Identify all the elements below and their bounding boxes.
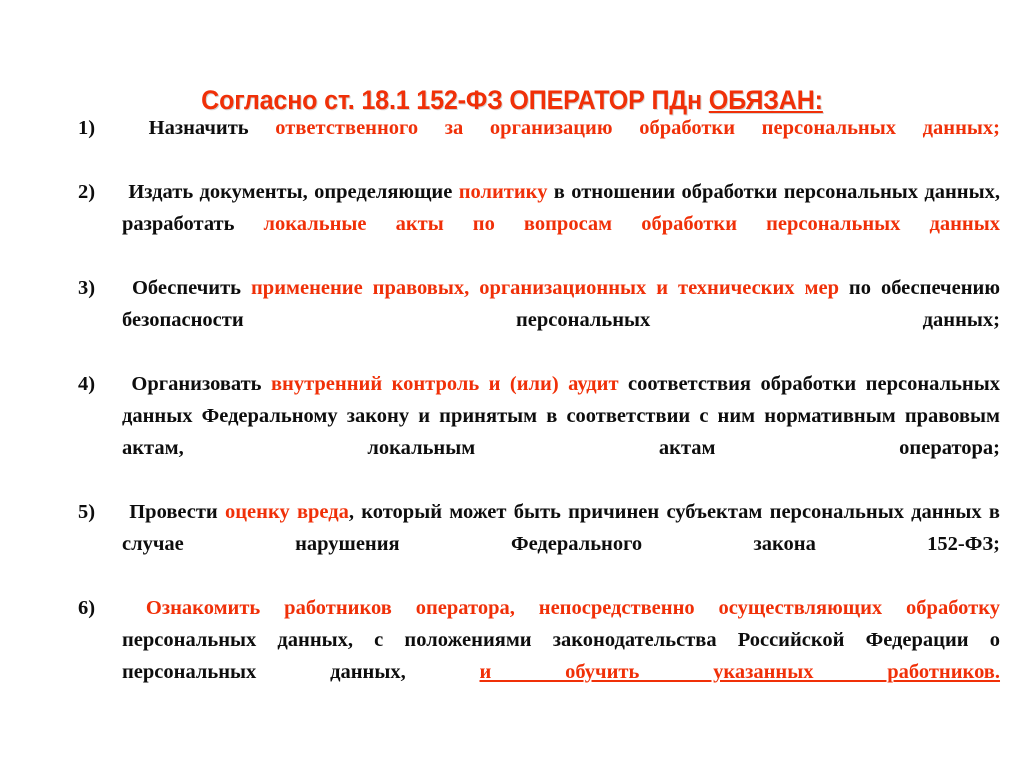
list-item: 1) Назначить ответственного за организац… [78,112,1000,176]
run-text: Обеспечить [122,277,251,299]
list-item: 3) Обеспечить применение правовых, орган… [78,272,1000,368]
list-item: 4) Организовать внутренний контроль и (и… [78,368,1000,496]
obligations-list: 1) Назначить ответственного за организац… [78,112,956,720]
list-item-number: 2) [78,176,122,208]
list-item-number: 6) [78,592,122,624]
run-text: политику [459,181,548,203]
run-text: Организовать [122,373,271,395]
run-text: Издать документы, определяющие [122,181,459,203]
run-text-underlined: и обучить указанных работников. [479,661,1000,683]
list-item-number: 1) [78,112,122,144]
list-item-number: 3) [78,272,122,304]
run-text: локальные акты по вопросам обработки пер… [264,213,1000,235]
slide-canvas: Согласно ст. 18.1 152-ФЗ ОПЕРАТОР ПДн ОБ… [0,0,1024,768]
list-item-number: 4) [78,368,122,400]
run-text: Провести [122,501,225,523]
run-text: применение правовых, организационных и т… [251,277,839,299]
page-title-lead: Согласно ст. 18.1 152-ФЗ ОПЕРАТОР ПДн [201,85,709,115]
list-item-number: 5) [78,496,122,528]
run-text: Ознакомить работников оператора, непосре… [146,597,1000,619]
run-text: ответственного за организацию обработки … [275,117,1000,139]
page-title-emphasis: ОБЯЗАН: [709,85,823,115]
list-item: 2) Издать документы, определяющие полити… [78,176,1000,272]
run-text: внутренний контроль и (или) аудит [271,373,619,395]
run-text: Назначить [122,117,275,139]
list-item: 6) Ознакомить работников оператора, непо… [78,592,1000,720]
run-text: оценку вреда [225,501,349,523]
list-item: 5) Провести оценку вреда, который может … [78,496,1000,592]
run-text [122,597,146,619]
